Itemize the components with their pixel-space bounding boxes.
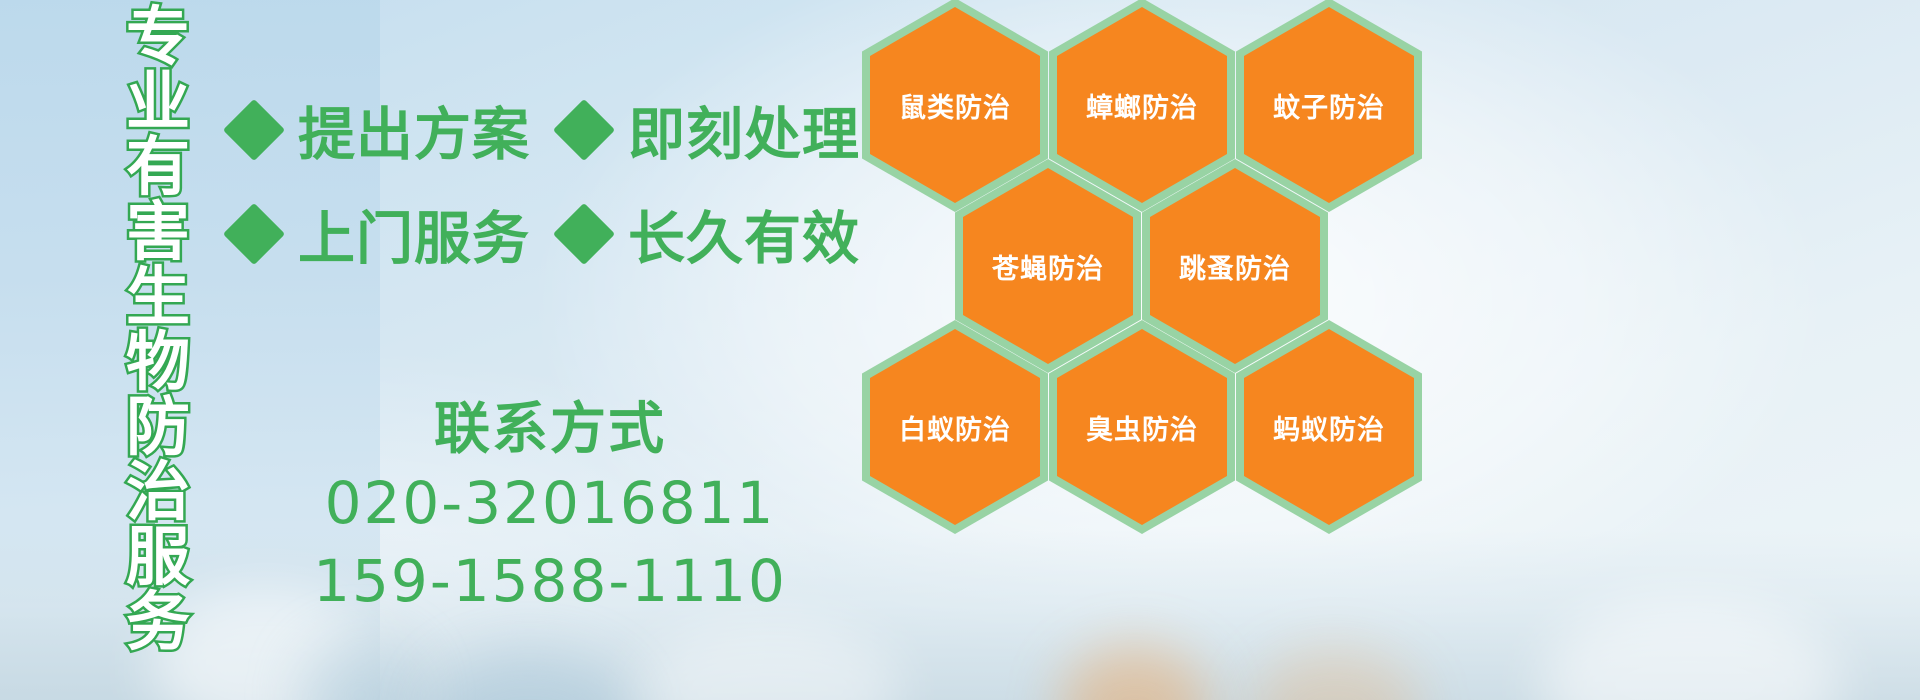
vertical-headline-char: 专	[126, 6, 190, 71]
service-label: 白蚁防治	[899, 408, 1011, 447]
service-label: 蚊子防治	[1273, 86, 1385, 125]
service-label: 蚂蚁防治	[1273, 408, 1385, 447]
vertical-headline-char: 业	[126, 71, 190, 136]
hex-inner: 鼠类防治	[870, 7, 1040, 203]
feature-item-propose-plan: 提出方案	[232, 89, 530, 171]
hex-inner: 白蚁防治	[870, 329, 1040, 525]
service-label: 鼠类防治	[899, 86, 1011, 125]
vertical-headline-char: 防	[126, 396, 190, 461]
vertical-headline-char: 生	[126, 266, 190, 331]
contact-phone-mobile[interactable]: 159-1588-1110	[290, 542, 810, 620]
vertical-headline-char: 务	[126, 591, 190, 656]
diamond-icon	[553, 99, 615, 161]
hex-inner: 蚂蚁防治	[1244, 329, 1414, 525]
vertical-headline-char: 有	[126, 136, 190, 201]
feature-item-long-lasting: 长久有效	[562, 193, 860, 275]
hex-inner: 臭虫防治	[1057, 329, 1227, 525]
feature-label: 即刻处理	[628, 89, 860, 171]
feature-label: 提出方案	[298, 89, 530, 171]
promo-banner: 专 业 有 害 生 物 防 治 服 务 提出方案 即刻处理 上门服务	[0, 0, 1920, 700]
vertical-headline-char: 治	[126, 461, 190, 526]
hex-inner: 蚊子防治	[1244, 7, 1414, 203]
service-label: 蟑螂防治	[1086, 86, 1198, 125]
hex-inner: 蟑螂防治	[1057, 7, 1227, 203]
diamond-icon	[223, 99, 285, 161]
service-label: 跳蚤防治	[1179, 247, 1291, 286]
vertical-headline: 专 业 有 害 生 物 防 治 服 务	[104, 6, 212, 606]
service-label: 苍蝇防治	[992, 247, 1104, 286]
feature-label: 长久有效	[628, 193, 860, 275]
vertical-headline-char: 服	[126, 526, 190, 591]
diamond-icon	[553, 203, 615, 265]
feature-item-onsite-service: 上门服务	[232, 193, 530, 275]
feature-item-immediate-handling: 即刻处理	[562, 89, 860, 171]
service-label: 臭虫防治	[1086, 408, 1198, 447]
feature-row: 上门服务 长久有效	[232, 182, 872, 286]
vertical-headline-char: 害	[126, 201, 190, 266]
feature-label: 上门服务	[298, 193, 530, 275]
diamond-icon	[223, 203, 285, 265]
vertical-headline-char: 物	[126, 331, 190, 396]
hex-inner: 苍蝇防治	[963, 168, 1133, 364]
contact-phone-landline[interactable]: 020-32016811	[290, 464, 810, 542]
contact-title: 联系方式	[290, 396, 810, 464]
contact-block: 联系方式 020-32016811 159-1588-1110	[290, 396, 810, 620]
hex-inner: 跳蚤防治	[1150, 168, 1320, 364]
feature-row: 提出方案 即刻处理	[232, 78, 872, 182]
feature-list: 提出方案 即刻处理 上门服务 长久有效	[232, 78, 872, 286]
service-honeycomb: 鼠类防治 蟑螂防治 蚊子防治 苍蝇防治 跳蚤防治 白蚁防治	[862, 0, 1462, 558]
